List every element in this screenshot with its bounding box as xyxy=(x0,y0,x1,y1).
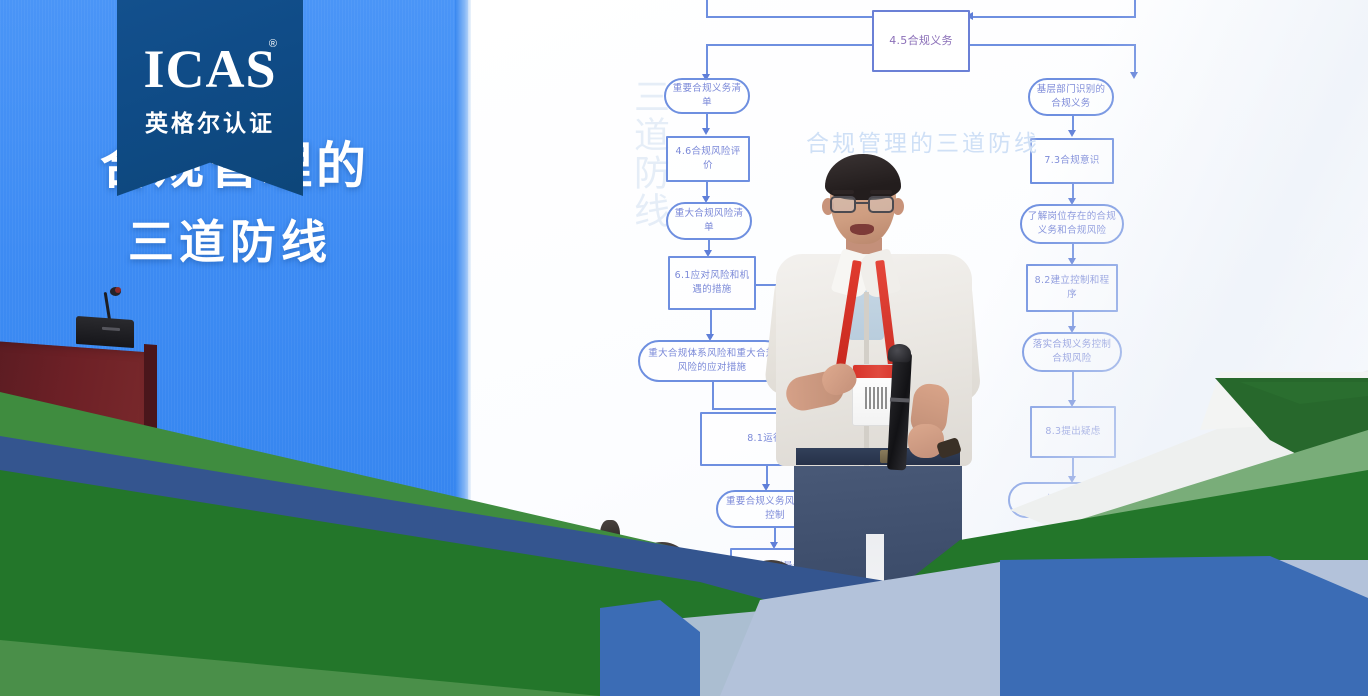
registered-trademark-icon: ® xyxy=(269,38,277,50)
icas-wordmark: ICAS xyxy=(117,42,303,96)
icas-chinese-name: 英格尔认证 xyxy=(117,104,303,138)
screenshot-stage: 三道防线 4.5合规义务 重要合规义务清单 4.6合规风险评价 重大合规风险清单… xyxy=(0,0,1368,696)
